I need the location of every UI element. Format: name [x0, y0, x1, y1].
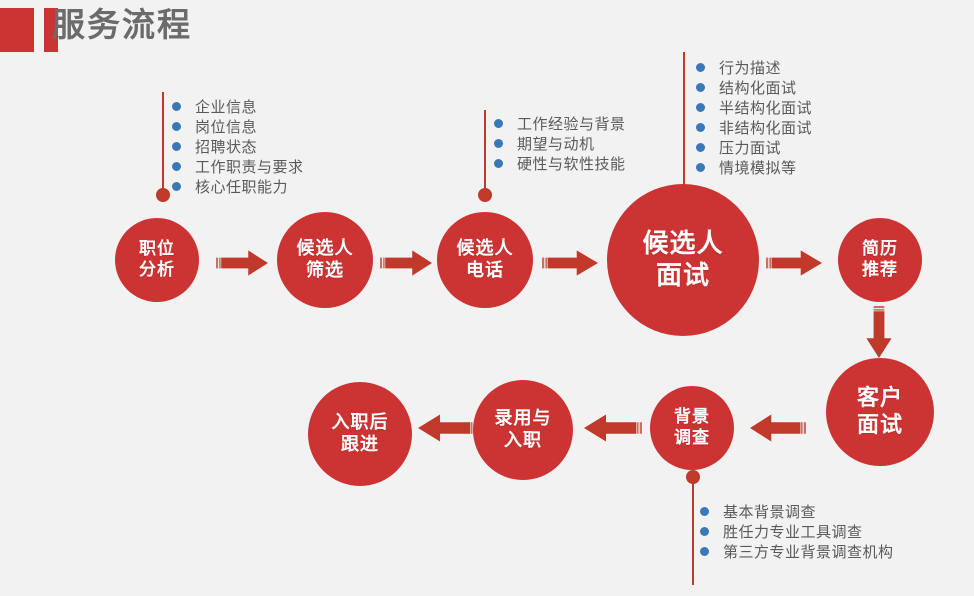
annotation-item: 工作职责与要求: [172, 156, 304, 176]
connector-background-check: [692, 470, 694, 585]
node-label: 客户面试: [853, 385, 907, 439]
annotation-label: 核心任职能力: [195, 176, 288, 197]
node-label-line1: 简历: [858, 239, 902, 260]
annotation-item: 结构化面试: [696, 77, 812, 97]
bullet-dot-icon: [494, 119, 503, 128]
flowchart-canvas: 服务流程 职位分析候选人筛选候选人电话候选人面试简历推荐客户面试背景调查录用与入…: [0, 0, 974, 596]
connector-dot: [686, 470, 700, 484]
node-label-line2: 电话: [453, 260, 518, 282]
annotation-item: 压力面试: [696, 137, 812, 157]
node-label-line2: 面试: [853, 412, 907, 439]
annotation-item: 工作经验与背景: [494, 113, 626, 133]
connector-job-analysis: [162, 92, 164, 202]
node-label: 候选人筛选: [293, 238, 358, 282]
bullet-dot-icon: [494, 159, 503, 168]
bullet-dot-icon: [172, 182, 181, 191]
node-client-interview[interactable]: 客户面试: [826, 358, 934, 466]
connector-dot: [478, 188, 492, 202]
annotation-label: 工作职责与要求: [195, 156, 304, 177]
annotation-label: 半结构化面试: [719, 97, 812, 118]
node-label-line2: 面试: [638, 260, 727, 292]
annotation-label: 情境模拟等: [719, 157, 797, 178]
annotation-label: 招聘状态: [195, 136, 257, 157]
annotation-label: 结构化面试: [719, 77, 797, 98]
connector-stem: [683, 52, 685, 204]
bullet-dot-icon: [700, 547, 709, 556]
node-offer-onboarding[interactable]: 录用与入职: [473, 380, 573, 480]
annotation-item: 行为描述: [696, 57, 812, 77]
node-label-line1: 客户: [853, 385, 907, 412]
notes-candidate-call: 工作经验与背景期望与动机硬性与软性技能: [494, 113, 626, 173]
node-label: 入职后跟进: [328, 412, 393, 456]
node-label-line2: 分析: [135, 260, 179, 281]
annotation-item: 岗位信息: [172, 116, 304, 136]
annotation-item: 期望与动机: [494, 133, 626, 153]
bullet-dot-icon: [696, 83, 705, 92]
bullet-dot-icon: [172, 102, 181, 111]
annotation-label: 工作经验与背景: [517, 113, 626, 134]
node-label: 简历推荐: [858, 239, 902, 280]
annotation-label: 第三方专业背景调查机构: [723, 541, 894, 562]
bullet-dot-icon: [494, 139, 503, 148]
title-accent-block-wide: [0, 8, 34, 52]
bullet-dot-icon: [700, 527, 709, 536]
bullet-dot-icon: [700, 507, 709, 516]
annotation-label: 硬性与软性技能: [517, 153, 626, 174]
node-label-line1: 录用与: [491, 408, 556, 430]
connector-interview: [683, 52, 685, 204]
arrow-resume-to-client: [864, 306, 894, 358]
node-label-line1: 背景: [670, 407, 714, 428]
arrow-screening-to-call: [380, 248, 432, 278]
bullet-dot-icon: [696, 163, 705, 172]
node-candidate-call[interactable]: 候选人电话: [437, 212, 533, 308]
node-label-line1: 候选人: [453, 238, 518, 260]
node-label: 职位分析: [135, 239, 179, 280]
page-title: 服务流程: [52, 3, 192, 47]
node-candidate-interview[interactable]: 候选人面试: [607, 184, 759, 336]
annotation-item: 胜任力专业工具调查: [700, 521, 894, 541]
annotation-label: 行为描述: [719, 57, 781, 78]
bullet-dot-icon: [172, 142, 181, 151]
node-label: 候选人面试: [638, 228, 727, 291]
bullet-dot-icon: [696, 143, 705, 152]
node-candidate-screening[interactable]: 候选人筛选: [277, 212, 373, 308]
node-post-onboard[interactable]: 入职后跟进: [308, 382, 412, 486]
node-label-line2: 跟进: [328, 434, 393, 456]
node-background-check[interactable]: 背景调查: [650, 386, 734, 470]
connector-candidate-call: [484, 110, 486, 202]
node-resume-recommend[interactable]: 简历推荐: [838, 218, 922, 302]
arrow-client-to-bgcheck: [750, 412, 806, 444]
annotation-label: 非结构化面试: [719, 117, 812, 138]
bullet-dot-icon: [696, 63, 705, 72]
annotation-item: 半结构化面试: [696, 97, 812, 117]
node-label-line1: 入职后: [328, 412, 393, 434]
node-label-line2: 入职: [491, 430, 556, 452]
annotation-label: 企业信息: [195, 96, 257, 117]
node-label-line2: 调查: [670, 428, 714, 449]
node-label: 录用与入职: [491, 408, 556, 452]
annotation-item: 第三方专业背景调查机构: [700, 541, 894, 561]
notes-background-check: 基本背景调查胜任力专业工具调查第三方专业背景调查机构: [700, 501, 894, 561]
arrow-offer-to-post: [418, 412, 476, 444]
bullet-dot-icon: [172, 162, 181, 171]
annotation-item: 基本背景调查: [700, 501, 894, 521]
node-label-line1: 候选人: [638, 228, 727, 260]
node-label-line1: 候选人: [293, 238, 358, 260]
annotation-item: 情境模拟等: [696, 157, 812, 177]
annotation-item: 硬性与软性技能: [494, 153, 626, 173]
annotation-item: 企业信息: [172, 96, 304, 116]
bullet-dot-icon: [696, 103, 705, 112]
annotation-label: 岗位信息: [195, 116, 257, 137]
node-label-line2: 筛选: [293, 260, 358, 282]
arrow-call-to-interview: [542, 248, 598, 278]
annotation-label: 期望与动机: [517, 133, 595, 154]
arrow-bgcheck-to-offer: [584, 412, 642, 444]
annotation-item: 非结构化面试: [696, 117, 812, 137]
node-label-line2: 推荐: [858, 260, 902, 281]
notes-job-analysis: 企业信息岗位信息招聘状态工作职责与要求核心任职能力: [172, 96, 304, 196]
notes-candidate-interview: 行为描述结构化面试半结构化面试非结构化面试压力面试情境模拟等: [696, 57, 812, 177]
connector-dot: [156, 188, 170, 202]
node-label-line1: 职位: [135, 239, 179, 260]
connector-stem: [692, 470, 694, 585]
connector-stem: [162, 92, 164, 202]
annotation-label: 基本背景调查: [723, 501, 816, 522]
node-label: 候选人电话: [453, 238, 518, 282]
annotation-label: 压力面试: [719, 137, 781, 158]
node-job-analysis[interactable]: 职位分析: [115, 218, 199, 302]
bullet-dot-icon: [696, 123, 705, 132]
annotation-item: 招聘状态: [172, 136, 304, 156]
annotation-item: 核心任职能力: [172, 176, 304, 196]
bullet-dot-icon: [172, 122, 181, 131]
node-label: 背景调查: [670, 407, 714, 448]
annotation-label: 胜任力专业工具调查: [723, 521, 863, 542]
arrow-job-to-screening: [216, 248, 268, 278]
arrow-interview-to-resume: [766, 248, 822, 278]
